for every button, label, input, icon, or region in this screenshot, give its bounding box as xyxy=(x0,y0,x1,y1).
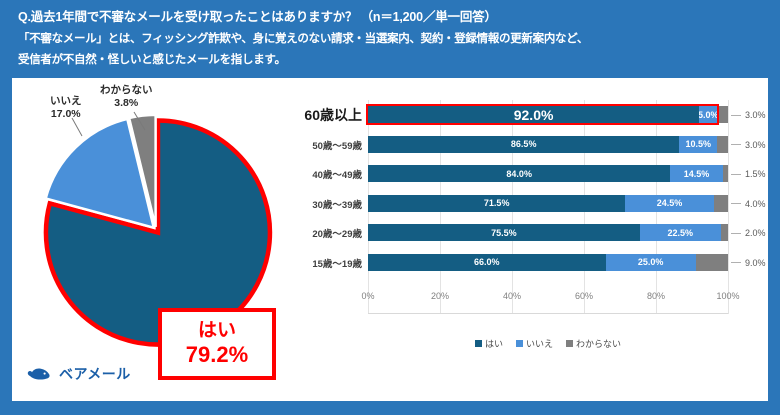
bar-axis-line xyxy=(368,313,728,314)
bar-category-label: 60歳以上 xyxy=(304,105,362,125)
legend-label: わからない xyxy=(576,337,621,350)
bar-row: 66.0%25.0% xyxy=(368,254,728,271)
bar-category-label: 40歳〜49歳 xyxy=(312,167,362,181)
legend-item: わからない xyxy=(566,337,621,350)
bar-segment-no: 10.5% xyxy=(679,136,717,153)
bar-category-label: 20歳〜29歳 xyxy=(312,226,362,240)
bar-segment-unknown xyxy=(696,254,728,271)
bar-segment-yes: 66.0% xyxy=(368,254,606,271)
bar-segment-no: 5.0% xyxy=(699,106,717,123)
pie-callout-yes: はい 79.2% xyxy=(158,308,276,380)
bar-segment-yes: 71.5% xyxy=(368,195,625,212)
pie-chart: いいえ 17.0% わからない 3.8% はい 79.2% xyxy=(12,78,300,350)
bar-unknown-value-label: 1.5% xyxy=(745,169,766,179)
bar-segment-no: 22.5% xyxy=(640,224,721,241)
legend-label: いいえ xyxy=(526,337,553,350)
legend-item: いいえ xyxy=(516,337,553,350)
bar-row: 84.0%14.5% xyxy=(368,165,728,182)
bar-leader-line xyxy=(731,174,741,175)
bar-segment-no: 24.5% xyxy=(625,195,713,212)
bar-segment-yes: 86.5% xyxy=(368,136,679,153)
survey-question: Q.過去1年間で不審なメールを受け取ったことはありますか？ （n＝1,200／単… xyxy=(18,6,497,25)
x-tick-80%: 80% xyxy=(647,291,665,301)
legend-label: はい xyxy=(485,337,503,350)
x-tick-0%: 0% xyxy=(361,291,374,301)
bar-leader-line xyxy=(731,233,741,234)
brand-logo: ベアメール xyxy=(26,364,131,384)
bar-row: 92.0%5.0% xyxy=(368,106,728,123)
infographic-page: Q.過去1年間で不審なメールを受け取ったことはありますか？ （n＝1,200／単… xyxy=(0,0,780,415)
legend-item: はい xyxy=(475,337,503,350)
bar-category-label: 30歳〜39歳 xyxy=(312,197,362,211)
pie-callout-value: 79.2% xyxy=(186,342,248,367)
header: Q.過去1年間で不審なメールを受け取ったことはありますか？ （n＝1,200／単… xyxy=(0,0,780,78)
x-tick-60%: 60% xyxy=(575,291,593,301)
bar-segment-unknown xyxy=(721,224,728,241)
bar-row: 75.5%22.5% xyxy=(368,224,728,241)
survey-note-line2: 受信者が不自然・怪しいと感じたメールを指します。 xyxy=(18,51,286,67)
bar-category-label: 50歳〜59歳 xyxy=(312,138,362,152)
bar-segment-yes: 92.0% xyxy=(368,106,699,123)
bar-unknown-value-label: 9.0% xyxy=(745,258,766,268)
bear-icon xyxy=(26,365,52,383)
x-tick-20%: 20% xyxy=(431,291,449,301)
bar-segment-unknown xyxy=(714,195,728,212)
bar-segment-yes: 84.0% xyxy=(368,165,670,182)
bar-unknown-value-label: 3.0% xyxy=(745,110,766,120)
bar-plot-area: 92.0%5.0%3.0%86.5%10.5%3.0%84.0%14.5%1.5… xyxy=(368,100,728,348)
bar-row: 86.5%10.5% xyxy=(368,136,728,153)
legend-swatch xyxy=(516,340,523,347)
bar-segment-no: 25.0% xyxy=(606,254,696,271)
bar-leader-line xyxy=(731,262,741,263)
pie-label-unknown: わからない 3.8% xyxy=(100,84,153,110)
survey-note-line1: 「不審なメール」とは、フィッシング詐欺や、身に覚えのない請求・当選案内、契約・登… xyxy=(18,30,588,46)
bar-unknown-value-label: 3.0% xyxy=(745,140,766,150)
legend-swatch xyxy=(566,340,573,347)
pie-callout-label: はい xyxy=(198,320,236,342)
bar-unknown-value-label: 4.0% xyxy=(745,199,766,209)
pie-label-no-text: いいえ xyxy=(50,95,82,107)
bar-leader-line xyxy=(731,203,741,204)
bar-unknown-value-label: 2.0% xyxy=(745,228,766,238)
brand-name: ベアメール xyxy=(59,364,131,384)
bar-row: 71.5%24.5% xyxy=(368,195,728,212)
bar-leader-line xyxy=(731,144,741,145)
bar-segment-no: 14.5% xyxy=(670,165,722,182)
bar-segment-unknown xyxy=(717,106,728,123)
x-tick-40%: 40% xyxy=(503,291,521,301)
pie-label-unknown-text: わからない xyxy=(100,84,153,96)
legend-swatch xyxy=(475,340,482,347)
bar-leader-line xyxy=(731,115,741,116)
bar-segment-unknown xyxy=(723,165,728,182)
pie-label-unknown-value: 3.8% xyxy=(100,97,153,110)
bar-category-label: 15歳〜19歳 xyxy=(312,256,362,270)
pie-label-no-value: 17.0% xyxy=(50,108,82,121)
bar-legend: はいいいえわからない xyxy=(368,337,728,350)
pie-label-no: いいえ 17.0% xyxy=(50,95,82,121)
gridline-100% xyxy=(728,100,729,314)
x-tick-100%: 100% xyxy=(716,291,739,301)
bar-segment-yes: 75.5% xyxy=(368,224,640,241)
bar-segment-unknown xyxy=(717,136,728,153)
bar-chart: 60歳以上50歳〜59歳40歳〜49歳30歳〜39歳20歳〜29歳15歳〜19歳… xyxy=(300,78,768,350)
